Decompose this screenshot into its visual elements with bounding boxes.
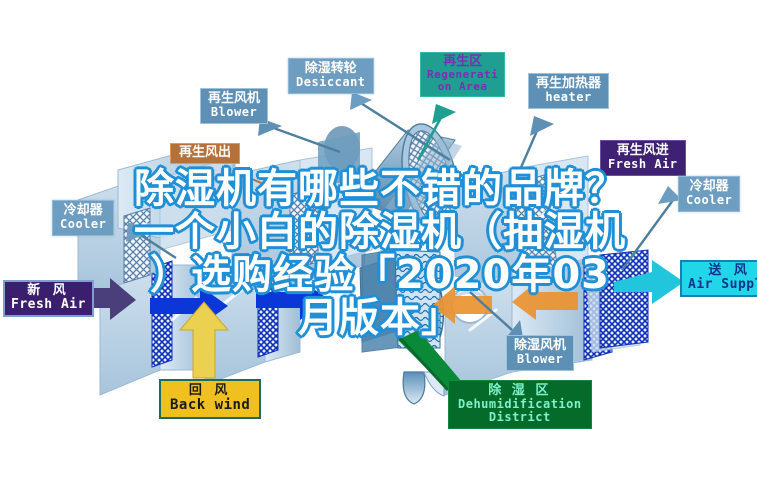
label-dehumidification-district-en-2: District — [458, 411, 582, 424]
label-air-supply-en: Air Supply — [688, 278, 757, 292]
label-regeneration-air-out: 再生风出 — [170, 143, 240, 164]
label-regeneration-fresh-air-in-cn: 再生风进 — [608, 144, 678, 158]
label-back-wind-en: Back wind — [170, 398, 250, 413]
label-regeneration-air-out-cn: 再生风出 — [179, 146, 231, 160]
label-back-wind: 回 风 Back wind — [159, 379, 261, 419]
label-cooler-right: 冷却器 Cooler — [678, 176, 740, 212]
watermark-title-line-4: 月版本」 — [95, 297, 665, 340]
label-air-supply-cn: 送 风 — [688, 264, 757, 278]
label-regeneration-blower-en: Blower — [208, 106, 260, 119]
label-regeneration-area-cn: 再生区 — [427, 55, 498, 69]
diagram-canvas: 除湿转轮 Desiccant 再生风机 Blower 再生风出 再生区 Rege… — [0, 0, 757, 488]
label-fresh-air-inlet: 新 风 Fresh Air — [3, 280, 94, 317]
label-air-supply: 送 风 Air Supply — [680, 260, 757, 297]
label-regeneration-blower: 再生风机 Blower — [200, 88, 268, 124]
label-desiccant-rotor: 除湿转轮 Desiccant — [288, 58, 374, 94]
label-cooler-right-cn: 冷却器 — [686, 180, 732, 194]
label-dehumidification-blower-en: Blower — [514, 353, 566, 366]
label-regeneration-blower-cn: 再生风机 — [208, 92, 260, 106]
watermark-title-line-1: 除湿机有哪些不错的品牌？ — [95, 168, 665, 211]
label-fresh-air-inlet-cn: 新 风 — [11, 284, 86, 298]
label-regeneration-heater: 再生加热器 heater — [528, 73, 609, 109]
label-dehumidification-blower-cn: 除湿风机 — [514, 339, 566, 353]
label-regeneration-heater-en: heater — [536, 91, 601, 104]
label-dehumidification-district-cn: 除 湿 区 — [458, 384, 582, 398]
watermark-title: 除湿机有哪些不错的品牌？ 一个小白的除湿机（抽湿机 ）选购经验「2020年03 … — [95, 168, 665, 340]
watermark-title-line-3: ）选购经验「2020年03 — [95, 254, 665, 297]
watermark-title-line-2: 一个小白的除湿机（抽湿机 — [95, 211, 665, 254]
label-dehumidification-district: 除 湿 区 Dehumidification District — [448, 380, 592, 429]
label-cooler-right-en: Cooler — [686, 194, 732, 207]
label-regeneration-heater-cn: 再生加热器 — [536, 77, 601, 91]
label-back-wind-cn: 回 风 — [170, 384, 250, 398]
label-regeneration-area: 再生区 Regenerati on Area — [420, 52, 505, 97]
label-desiccant-rotor-en: Desiccant — [296, 76, 366, 89]
label-desiccant-rotor-cn: 除湿转轮 — [296, 62, 366, 76]
label-regeneration-area-en-2: on Area — [427, 81, 498, 93]
label-fresh-air-inlet-en: Fresh Air — [11, 298, 86, 312]
label-dehumidification-blower: 除湿风机 Blower — [506, 335, 574, 371]
